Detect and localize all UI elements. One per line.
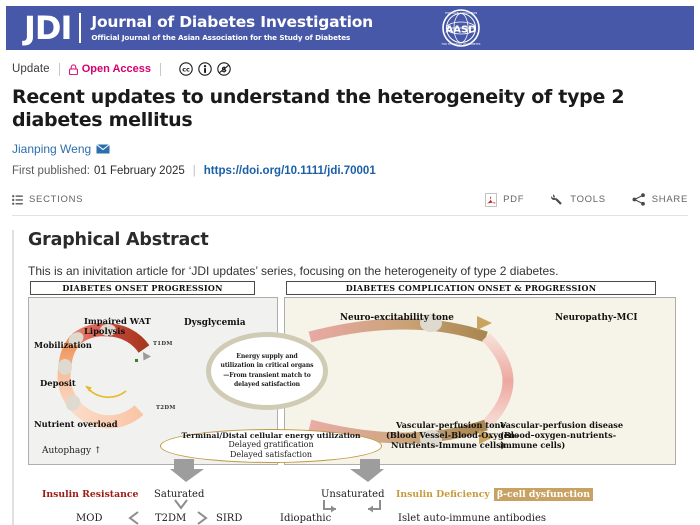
autophagy-label: Autophagy ↑ [42, 446, 102, 456]
graphical-abstract-section: Graphical Abstract This is an inivitatio… [12, 230, 700, 525]
cc-by-icon [198, 62, 212, 76]
meta-divider-2 [160, 63, 161, 76]
lock-icon [69, 64, 78, 75]
share-button[interactable]: SHARE [632, 193, 688, 206]
diabetes-onset-panel-header: DIABETES ONSET PROGRESSION [30, 281, 255, 295]
svg-text:cc: cc [182, 66, 190, 74]
jdi-logo: JDI [24, 12, 71, 44]
neuro-arrow-icon [476, 315, 494, 331]
article-toolbar: SECTIONS PDF TOOLS SHARE [12, 190, 688, 216]
toolbar-right-group: PDF TOOLS SHARE [485, 193, 688, 207]
insulin-resistance-label: Insulin Resistance [42, 489, 138, 500]
cc-icon: cc [179, 62, 193, 76]
islet-arrow-icon [366, 499, 382, 513]
tools-label: TOOLS [570, 194, 606, 205]
terminal-oval-line2: Delayed gratification [228, 440, 313, 450]
diabetes-classification-group: Insulin Resistance Saturated Unsaturated… [28, 475, 676, 525]
t2dm-classification-label: T2DM [155, 513, 186, 524]
vascular-perfusion-tone-line3: Nutrients-Immune cells) [391, 441, 505, 450]
energy-oval-line1: Energy supply and [236, 352, 297, 361]
license-icons: cc $ [179, 62, 231, 76]
diabetes-complication-panel-header: DIABETES COMPLICATION ONSET & PROGRESSIO… [286, 281, 656, 295]
svg-text:THE ASIAN ASSOCIATION: THE ASIAN ASSOCIATION [445, 11, 477, 15]
t1dm-label: T1DM [153, 341, 173, 347]
impaired-wat-label-line1: Impaired WAT [84, 317, 151, 326]
section-heading: Graphical Abstract [28, 230, 690, 250]
sird-label: SIRD [216, 513, 242, 524]
journal-masthead: JDI Journal of Diabetes Investigation Of… [6, 6, 694, 50]
insulin-deficiency-label: Insulin Deficiency [396, 489, 490, 500]
envelope-icon[interactable] [96, 144, 110, 154]
share-label: SHARE [652, 194, 688, 205]
author-row: Jianping Weng [12, 142, 688, 156]
published-label: First published: [12, 165, 90, 177]
published-date: 01 February 2025 [94, 165, 185, 177]
pub-divider: | [193, 165, 196, 177]
graphical-abstract-figure[interactable]: DIABETES ONSET PROGRESSION DIABETES COMP… [28, 289, 676, 525]
terminal-oval-line3: Delayed satisfaction [230, 450, 312, 460]
pdf-icon [485, 193, 497, 207]
svg-text:FOR THE STUDY OF DIABETES: FOR THE STUDY OF DIABETES [442, 42, 481, 46]
sird-right-chevron-icon [196, 511, 208, 525]
nutrient-overload-label: Nutrient overload [34, 420, 118, 429]
masthead-titles: Journal of Diabetes Investigation Offici… [91, 14, 373, 42]
vascular-perfusion-tone-line1: Vascular-perfusion tone [396, 421, 506, 430]
neuropathy-mci-label: Neuropathy-MCI [555, 314, 637, 324]
open-access-label: Open Access [82, 63, 151, 75]
svg-text:AASD: AASD [446, 25, 477, 36]
vascular-perfusion-disease-line1: Vascular-perfusion disease [500, 421, 623, 430]
section-body: Graphical Abstract This is an inivitatio… [28, 230, 700, 525]
dysglycemia-label: Dysglycemia [184, 319, 246, 329]
vascular-perfusion-disease-line2: (Blood–oxygen-nutrients- [500, 431, 616, 440]
deposit-label: Deposit [40, 379, 76, 388]
section-left-rule [12, 230, 14, 525]
meta-divider [59, 63, 60, 76]
t2dm-ring-label: T2DM [156, 405, 176, 411]
beta-cell-dysfunction-badge: β-cell dysfunction [494, 488, 593, 501]
journal-title: Journal of Diabetes Investigation [91, 14, 373, 31]
sections-label: SECTIONS [29, 194, 83, 205]
masthead-divider [79, 13, 81, 43]
pdf-button[interactable]: PDF [485, 193, 524, 207]
wrench-icon [550, 193, 564, 207]
open-access-badge: Open Access [69, 63, 151, 75]
cc-nc-icon: $ [217, 62, 231, 76]
sections-button[interactable]: SECTIONS [12, 194, 83, 205]
vascular-perfusion-disease-line3: immune cells) [500, 441, 565, 450]
terminal-oval-line1: Terminal/Distal cellular energy utilizat… [182, 431, 361, 440]
saturated-down-chevron-icon [174, 499, 188, 510]
doi-link[interactable]: https://doi.org/10.1111/jdi.70001 [204, 165, 376, 177]
vascular-perfusion-tone-line2: (Blood Vessel-Blood-Oxygen- [386, 431, 518, 440]
section-description: This is an inivitation article for ‘JDI … [28, 263, 638, 280]
publication-line: First published: 01 February 2025 | http… [12, 165, 688, 177]
aasd-circular-logo: AASD THE ASIAN ASSOCIATION FOR THE STUDY… [426, 8, 496, 48]
islet-antibodies-label: Islet auto-immune antibodies [398, 513, 546, 524]
journal-subtitle: Official Journal of the Asian Associatio… [91, 33, 373, 42]
idiopathic-arrow-icon [322, 499, 338, 513]
impaired-wat-label-line2: Lipolysis [84, 327, 125, 336]
mobilization-label: Mobilization [34, 341, 92, 350]
article-type-label: Update [12, 63, 50, 75]
terminal-distal-oval: Terminal/Distal cellular energy utilizat… [160, 429, 382, 463]
article-meta-row: Update Open Access cc $ [12, 61, 688, 77]
pdf-label: PDF [503, 194, 524, 205]
mod-label: MOD [76, 513, 102, 524]
neuro-excitability-tone-label: Neuro-excitability tone [340, 314, 454, 324]
author-name[interactable]: Jianping Weng [12, 142, 91, 156]
share-icon [632, 193, 646, 206]
idiopathic-label: Idiopathic [280, 513, 331, 524]
tools-button[interactable]: TOOLS [550, 193, 606, 207]
mod-left-chevron-icon [128, 511, 140, 525]
page-title: Recent updates to understand the heterog… [12, 86, 652, 132]
list-icon [12, 195, 23, 205]
